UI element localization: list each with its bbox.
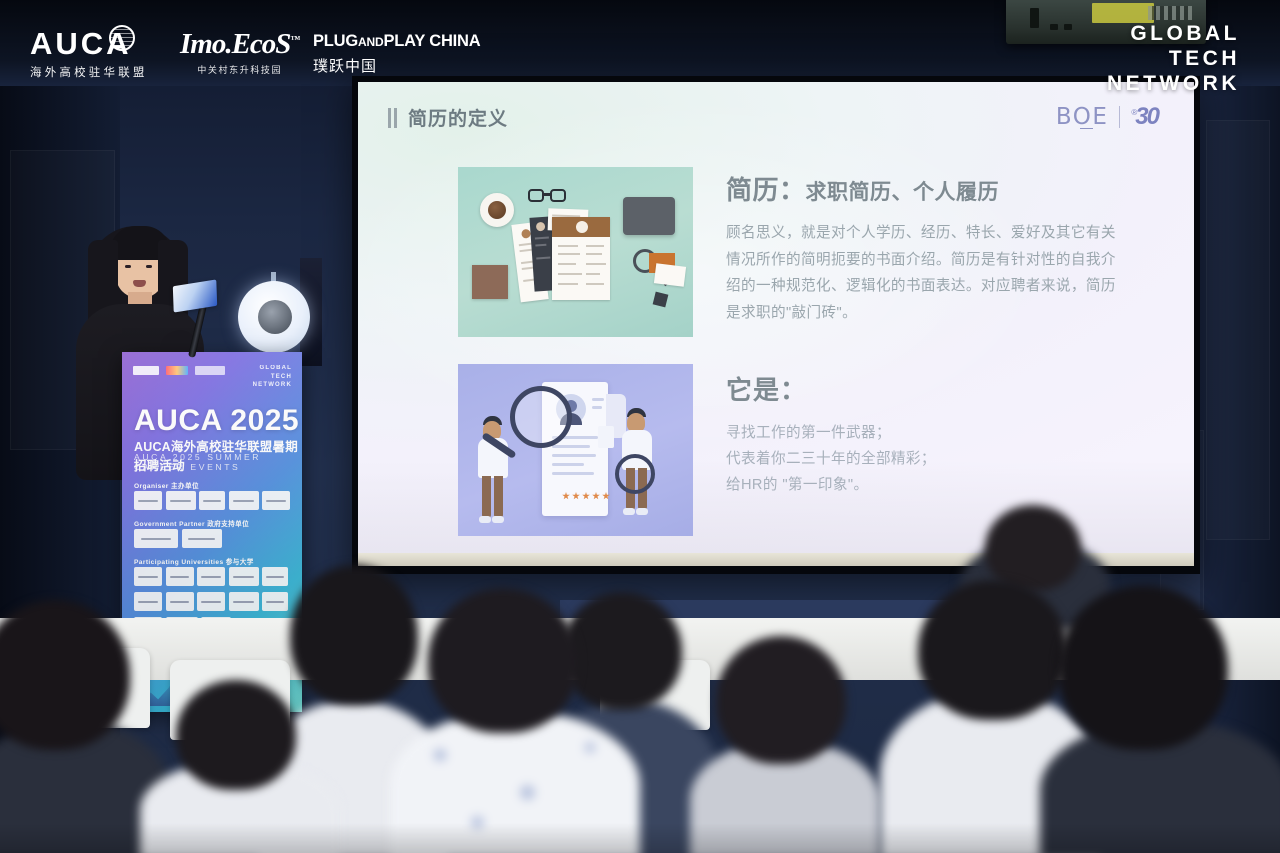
brand-divider: [1119, 106, 1120, 128]
audience-head: [918, 580, 1068, 720]
gtn-line-1: GLOBAL: [1107, 22, 1240, 47]
podium-logo-plugandplay: [195, 366, 225, 375]
podium-section-label-organiser: Organiser 主办单位: [134, 480, 199, 490]
eraser-object: [653, 292, 669, 308]
section-two-bullets: 寻找工作的第一件武器； 代表着你二三十年的全部精彩； 给HR的 "第一印象"。: [726, 421, 1056, 499]
title-marker-icon: [388, 108, 399, 128]
foreground-vignette: [0, 823, 1280, 853]
round-wall-light-fixture: [238, 281, 310, 353]
overlay-logo-bar: AUCA 海外高校驻华联盟 Imo.EcoS™ 中关村东升科技园 PLUGAND…: [0, 0, 1280, 92]
wall-panel-right: [1206, 120, 1270, 540]
notebook: [472, 265, 508, 299]
globe-icon: [109, 25, 135, 51]
gtn-line-3: NETWORK: [1107, 72, 1240, 97]
held-paper: [598, 426, 614, 448]
audience-head: [985, 505, 1081, 591]
section-two-heading: 它是：: [726, 370, 1056, 407]
podium-top-logos: [133, 366, 225, 375]
coffee-cup-icon: [480, 193, 514, 227]
boe-wordmark: BOE: [1056, 104, 1109, 130]
logo-imo-ecos: Imo.EcoS™ 中关村东升科技园: [180, 30, 299, 76]
audience-head: [716, 636, 846, 764]
tablet-device: [623, 197, 675, 235]
section-one-heading: 简历：求职简历、个人履历: [726, 170, 1136, 207]
podium-subtitle-en: AUCA 2025 SUMMER CAREER EVENTS: [134, 452, 302, 472]
logo-auca: AUCA 海外高校驻华联盟: [30, 28, 148, 80]
bullet-line: 代表着你二三十年的全部精彩；: [726, 447, 1056, 473]
eyeglasses-icon: [528, 189, 566, 203]
trademark-icon: ™: [290, 34, 299, 45]
podium-logo-imo: [166, 366, 188, 375]
slide-title-text: 简历的定义: [408, 104, 508, 131]
bullet-line: 给HR的 "第一印象"。: [726, 473, 1056, 499]
logo-auca-subtitle: 海外高校驻华联盟: [30, 64, 148, 80]
audience-head: [176, 680, 296, 790]
logo-plugandplay-china: PLUGANDPLAY CHINA 璞跃中国: [313, 33, 480, 76]
podium-gtn-logo: GLOBALTECHNETWORK: [253, 364, 292, 390]
podium-subtitle-cn: AUCA海外高校驻华联盟暑期招聘活动: [134, 436, 302, 474]
slide-section-two: 它是： 寻找工作的第一件武器； 代表着你二三十年的全部精彩； 给HR的 "第一印…: [726, 370, 1056, 499]
gtn-line-2: TECH: [1107, 47, 1240, 72]
projection-screen: 简历的定义 BOE ®30: [358, 82, 1194, 566]
logo-pnp-subtitle: 璞跃中国: [313, 55, 480, 76]
large-magnifier-icon: [510, 386, 572, 448]
audience-head: [562, 592, 682, 710]
podium-logo-row-organiser: [134, 491, 290, 510]
podium-section-label-government: Government Partner 政府支持单位: [134, 518, 249, 528]
slide-title: 简历的定义: [388, 104, 508, 131]
resume-review-illustration: [458, 364, 693, 536]
podium-logo-row-universities-2: [134, 592, 288, 611]
audience-head: [290, 565, 418, 705]
five-star-rating: [562, 492, 610, 500]
logo-global-tech-network: GLOBAL TECH NETWORK: [1107, 22, 1240, 96]
audience-head: [1058, 585, 1228, 750]
conference-photo-scene: 简历的定义 BOE ®30: [0, 0, 1280, 853]
audience-head: [428, 588, 578, 733]
business-card: [654, 263, 686, 287]
bullet-line: 寻找工作的第一件武器；: [726, 421, 1056, 447]
podium-title: AUCA 2025: [134, 404, 299, 438]
resume-flatlay-photo: [458, 167, 693, 337]
podium-logo-row-government: [134, 529, 222, 548]
podium-logo-row-universities-1: [134, 567, 288, 586]
podium-section-label-universities: Participating Universities 参与大学: [134, 556, 254, 566]
podium-logo-auca: [133, 366, 159, 375]
logo-imo-wordmark: Imo.EcoS: [180, 28, 290, 60]
section-one-paragraph: 顾名思义，就是对个人学历、经历、特长、爱好及其它有关情况所作的简明扼要的书面介绍…: [726, 220, 1126, 326]
logo-imo-subtitle: 中关村东升科技园: [180, 63, 299, 76]
boe-brand-logo: BOE ®30: [1056, 103, 1158, 131]
slide-section-one: 简历：求职简历、个人履历 顾名思义，就是对个人学历、经历、特长、爱好及其它有关情…: [726, 170, 1136, 326]
resume-sheet-main: [552, 217, 610, 300]
boe-30th-anniversary-icon: ®30: [1131, 103, 1158, 131]
small-magnifier-icon: [615, 454, 655, 494]
